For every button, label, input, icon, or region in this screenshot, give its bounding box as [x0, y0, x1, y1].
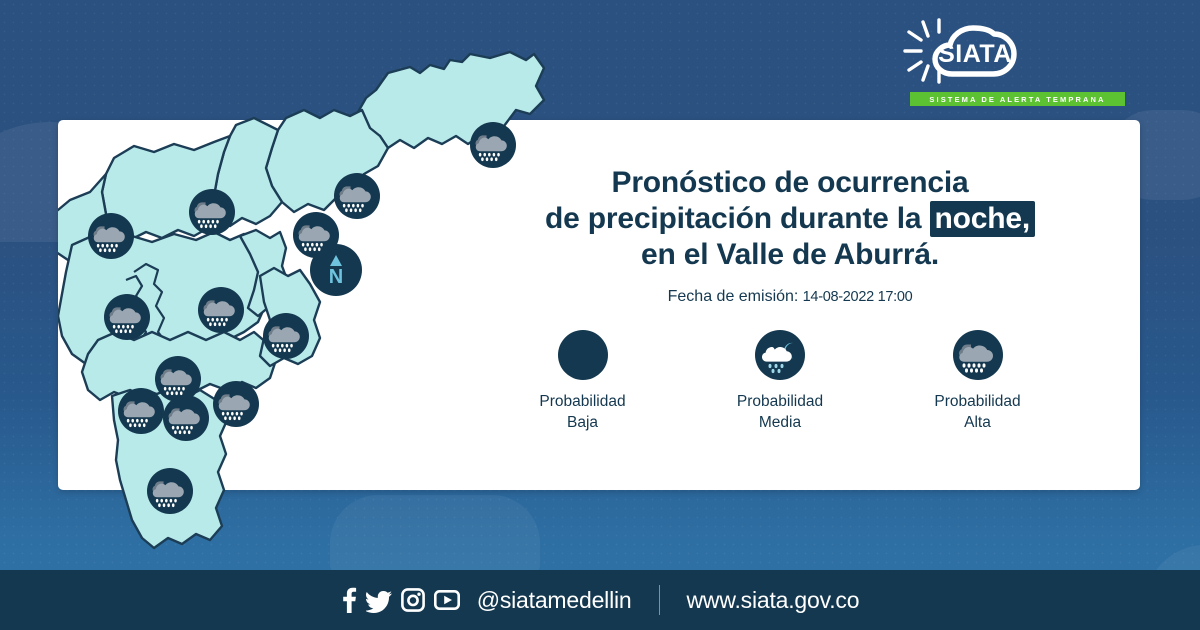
- emission-date: Fecha de emisión: 14-08-2022 17:00: [480, 287, 1100, 307]
- map-marker-girardota[interactable]: [334, 173, 380, 219]
- shape-barbosa: [358, 52, 544, 148]
- green-banner: SISTEMA DE ALERTA TEMPRANA: [910, 92, 1125, 106]
- headline-line-2: de precipitación durante la noche,: [480, 201, 1100, 237]
- headline-line-3: en el Valle de Aburrá.: [480, 237, 1100, 273]
- legend-label-alta: Probabilidad Alta: [934, 391, 1020, 433]
- map-marker-caldas-sur[interactable]: [147, 468, 193, 514]
- cloud-moon-rain-icon: [755, 330, 805, 380]
- legend-item-baja[interactable]: Probabilidad Baja: [490, 330, 675, 433]
- emission-date-label: Fecha de emisión:: [668, 288, 799, 305]
- emission-date-value: 14-08-2022 17:00: [803, 289, 913, 305]
- legend-item-alta[interactable]: Probabilidad Alta: [885, 330, 1070, 433]
- map-marker-medellin[interactable]: [104, 294, 150, 340]
- map-marker-caldas[interactable]: [213, 381, 259, 427]
- twitter-icon[interactable]: [366, 587, 392, 613]
- footer-divider: [659, 585, 660, 615]
- page-title: Pronóstico de ocurrencia de precipitació…: [480, 165, 1100, 273]
- legend-label-media: Probabilidad Media: [737, 391, 823, 433]
- headline-block: Pronóstico de ocurrencia de precipitació…: [480, 165, 1100, 307]
- instagram-icon[interactable]: [401, 588, 425, 612]
- website-url[interactable]: www.siata.gov.co: [687, 587, 860, 614]
- map-marker-barbosa[interactable]: [470, 122, 516, 168]
- legend-label-baja: Probabilidad Baja: [539, 391, 625, 433]
- map-marker-sabaneta[interactable]: [118, 388, 164, 434]
- map-marker-la-estrella[interactable]: [163, 395, 209, 441]
- map-marker-envigado[interactable]: [263, 313, 309, 359]
- siata-logo-text: SIATA: [938, 40, 1012, 68]
- map-marker-bello[interactable]: [198, 287, 244, 333]
- sun-rays-icon: [905, 20, 939, 82]
- green-banner-text: SISTEMA DE ALERTA TEMPRANA: [929, 95, 1105, 104]
- headline-line-1: Pronóstico de ocurrencia: [480, 165, 1100, 201]
- map-marker-don-matias[interactable]: [88, 213, 134, 259]
- valle-de-aburra-map[interactable]: N: [58, 40, 558, 580]
- legend-item-media[interactable]: Probabilidad Media: [688, 330, 873, 433]
- compass-label: N: [329, 266, 343, 288]
- map-marker-san-pedro[interactable]: [189, 189, 235, 235]
- cloud-heavy-rain-icon: [953, 330, 1003, 380]
- facebook-icon[interactable]: [341, 587, 357, 613]
- social-handle[interactable]: @siatamedellin: [477, 587, 632, 614]
- moon-icon: [558, 330, 608, 380]
- headline-highlight: noche,: [930, 201, 1035, 237]
- map-marker-copacabana[interactable]: [293, 212, 339, 258]
- siata-sun-cloud-logo: SIATA: [895, 18, 1023, 84]
- footer-bar: @siatamedellin www.siata.gov.co: [0, 570, 1200, 630]
- probability-legend: Probabilidad Baja Probabilidad Media: [490, 330, 1070, 450]
- youtube-icon[interactable]: [434, 590, 460, 610]
- social-icons: [341, 587, 460, 613]
- headline-line-2-text: de precipitación durante la: [545, 202, 921, 235]
